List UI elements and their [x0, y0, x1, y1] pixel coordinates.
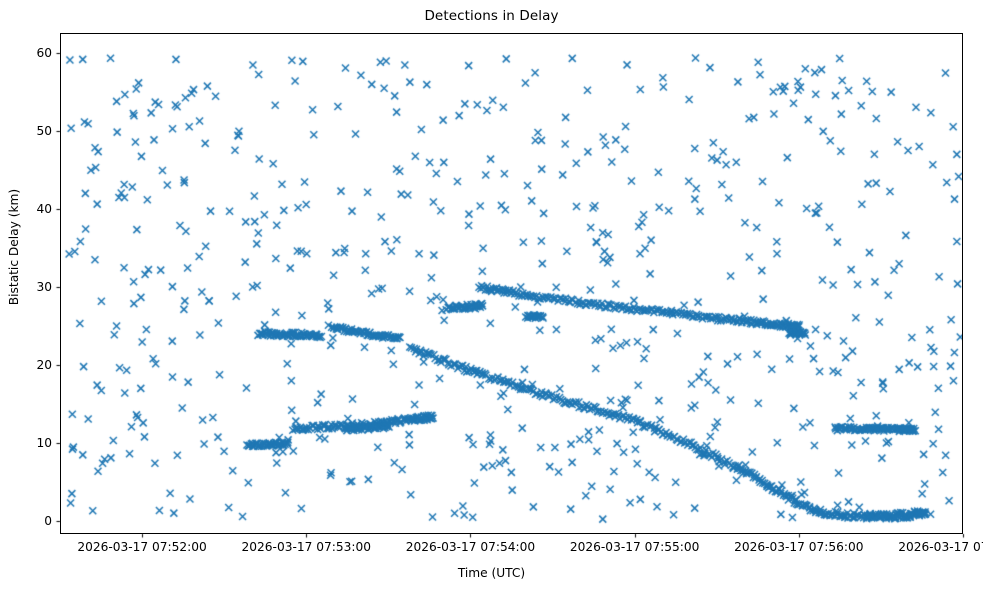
- scatter-points-canvas: [61, 34, 963, 534]
- x-tick-label: 2026-03-17 07:57:00: [898, 540, 983, 554]
- matplotlib-figure: Detections in Delay 0102030405060 Bistat…: [0, 0, 983, 590]
- y-tick-label: 10: [6, 437, 52, 449]
- x-tick-label: 2026-03-17 07:53:00: [242, 540, 371, 554]
- x-tick-label: 2026-03-17 07:56:00: [734, 540, 863, 554]
- x-axis-label: Time (UTC): [0, 566, 983, 580]
- x-tick-label: 2026-03-17 07:55:00: [570, 540, 699, 554]
- plot-area[interactable]: [60, 33, 963, 534]
- x-tick-label: 2026-03-17 07:52:00: [77, 540, 206, 554]
- x-tick-label: 2026-03-17 07:54:00: [406, 540, 535, 554]
- y-tick-label: 60: [6, 47, 52, 59]
- page-title: Detections in Delay: [0, 8, 983, 24]
- y-axis-label: Bistatic Delay (km): [7, 127, 21, 367]
- y-tick-label: 0: [6, 515, 52, 527]
